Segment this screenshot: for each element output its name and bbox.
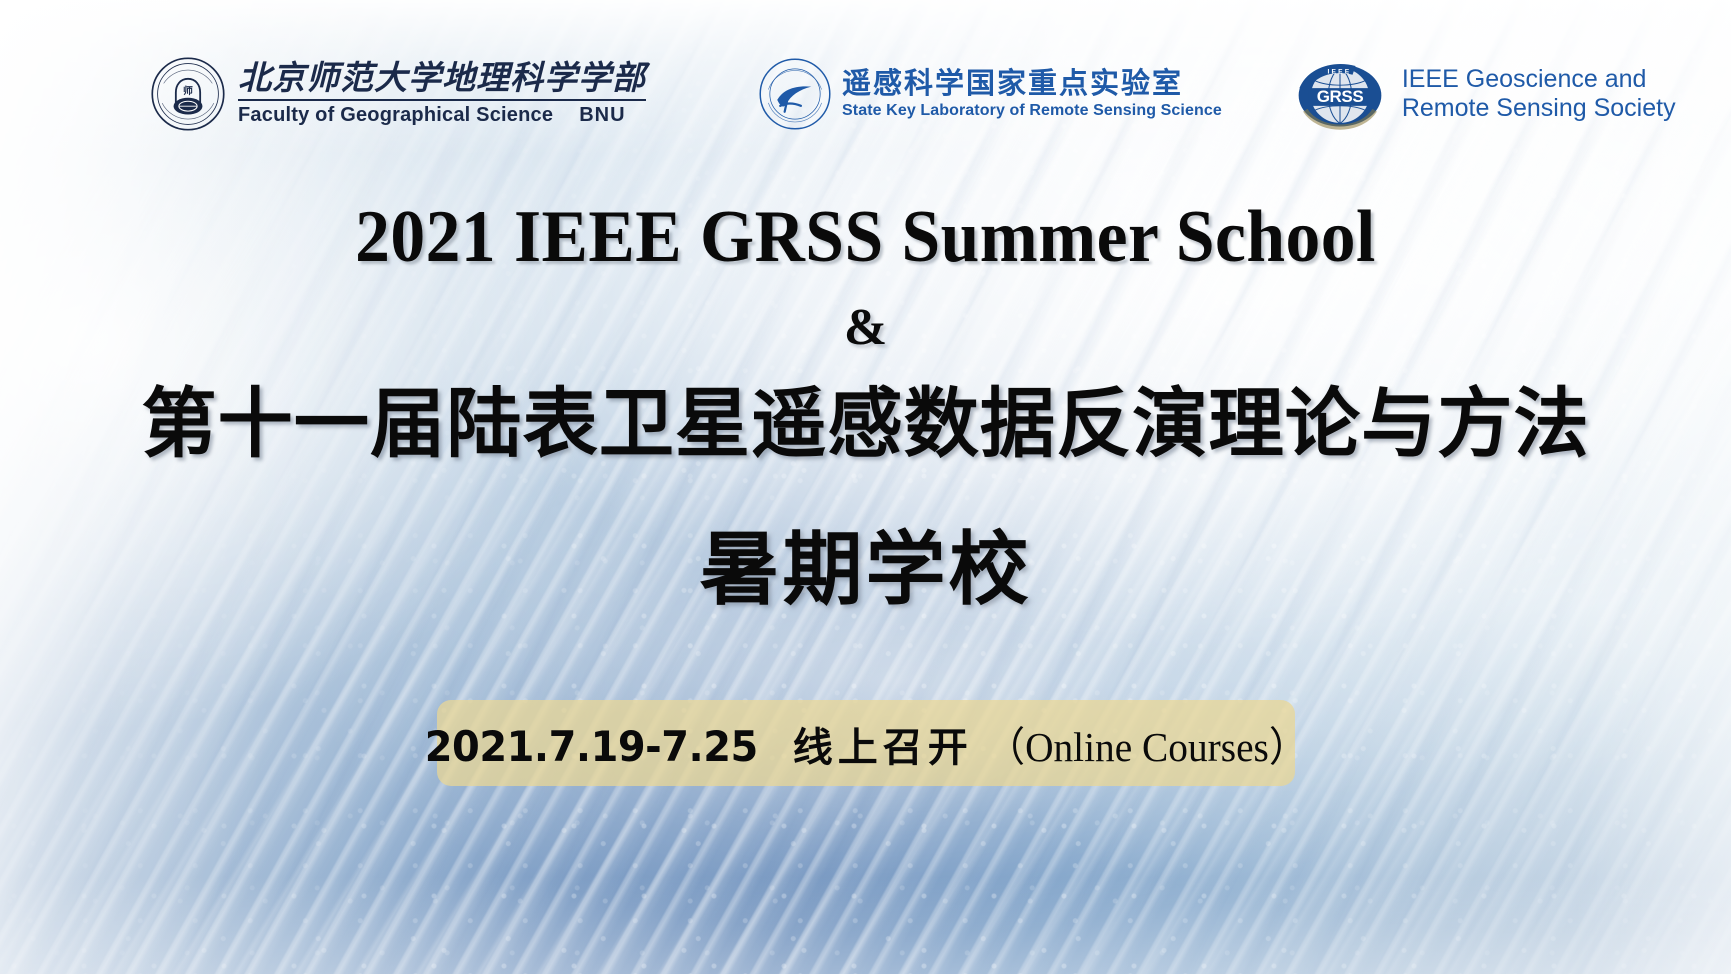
bnu-name-en: Faculty of Geographical ScienceBNU — [238, 104, 646, 127]
logo-skl: 遥感科学国家重点实验室 State Key Laboratory of Remo… — [758, 57, 1222, 131]
skl-seal-icon — [758, 57, 832, 131]
grss-line-1: IEEE Geoscience and — [1402, 65, 1676, 95]
date-banner: 2021.7.19-7.25 线上召开 （Online Courses） — [437, 700, 1295, 786]
bnu-divider-rule — [238, 99, 646, 101]
grss-text-block: IEEE Geoscience and Remote Sensing Socie… — [1402, 65, 1676, 124]
title-english: 2021 IEEE GRSS Summer School — [52, 198, 1679, 276]
skl-name-cn: 遥感科学国家重点实验室 — [842, 68, 1222, 100]
svg-text:GRSS: GRSS — [1317, 87, 1364, 106]
banner-mode-cn: 线上召开 — [793, 715, 973, 773]
logo-row: 师 北京师范大学地理科学学部 Faculty of Geographical S… — [0, 46, 1731, 142]
bnu-abbr: BNU — [579, 104, 625, 126]
banner-date: 2021.7.19-7.25 — [425, 722, 758, 771]
grss-globe-icon: IEEE GRSS — [1292, 58, 1388, 130]
bnu-text-block: 北京师范大学地理科学学部 Faculty of Geographical Sci… — [238, 61, 646, 128]
svg-text:IEEE: IEEE — [1327, 68, 1351, 75]
bnu-seal-icon: 师 — [150, 56, 226, 132]
logo-grss: IEEE GRSS IEEE Geoscience and Remote Sen… — [1292, 58, 1676, 130]
title-chinese-sub: 暑期学校 — [0, 505, 1731, 621]
skl-text-block: 遥感科学国家重点实验室 State Key Laboratory of Remo… — [842, 68, 1222, 120]
grss-line-2: Remote Sensing Society — [1402, 94, 1676, 124]
poster-root: 师 北京师范大学地理科学学部 Faculty of Geographical S… — [0, 0, 1731, 974]
title-ampersand: & — [0, 298, 1731, 357]
svg-text:师: 师 — [183, 84, 193, 97]
logo-bnu: 师 北京师范大学地理科学学部 Faculty of Geographical S… — [150, 56, 646, 132]
date-banner-text: 2021.7.19-7.25 线上召开 （Online Courses） — [416, 713, 1315, 773]
banner-mode-en: （Online Courses） — [986, 713, 1309, 773]
skl-name-en: State Key Laboratory of Remote Sensing S… — [842, 102, 1222, 120]
bnu-name-en-text: Faculty of Geographical Science — [238, 104, 553, 126]
title-block: 2021 IEEE GRSS Summer School & 第十一届陆表卫星遥… — [0, 198, 1731, 621]
bnu-name-cn: 北京师范大学地理科学学部 — [238, 61, 646, 96]
title-chinese-main: 第十一届陆表卫星遥感数据反演理论与方法 — [9, 381, 1723, 466]
